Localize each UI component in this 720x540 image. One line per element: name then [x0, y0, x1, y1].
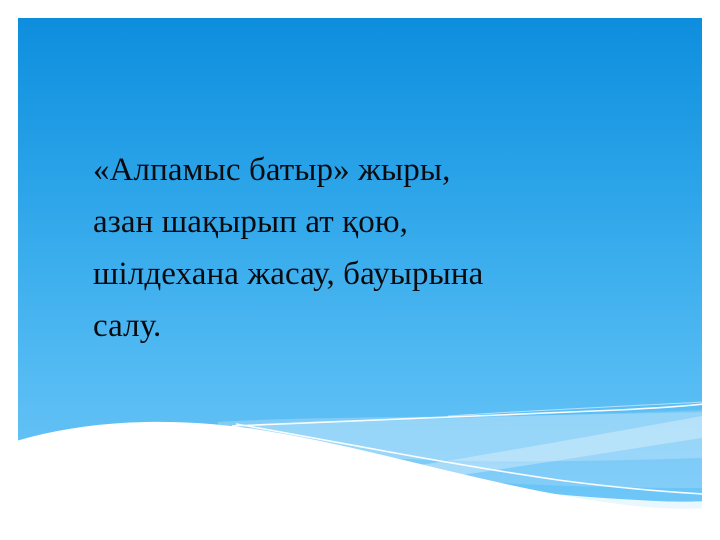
wave-secondary-white: [218, 458, 702, 522]
wave-band-upper: [218, 412, 702, 461]
accent-line-secondary: [448, 402, 702, 416]
slide-page: «Алпамыс батыр» жыры, азан шақырып ат қо…: [0, 0, 720, 540]
wave-band-lower: [318, 416, 702, 490]
accent-line-rising: [232, 404, 702, 426]
slide-text-line-4: салу.: [93, 300, 653, 352]
slide-text-line-3: шілдехана жасау, бауырына: [93, 248, 653, 300]
slide-text-line-2: азан шақырып ат қою,: [93, 196, 653, 248]
slide-text-line-1: «Алпамыс батыр» жыры,: [93, 144, 653, 196]
wave-main-white: [18, 422, 702, 522]
accent-line-descending: [236, 424, 702, 494]
slide-body-text[interactable]: «Алпамыс батыр» жыры, азан шақырып ат қо…: [93, 144, 653, 352]
slide-canvas[interactable]: «Алпамыс батыр» жыры, азан шақырып ат қо…: [18, 18, 702, 522]
wave-band-center: [250, 410, 702, 488]
